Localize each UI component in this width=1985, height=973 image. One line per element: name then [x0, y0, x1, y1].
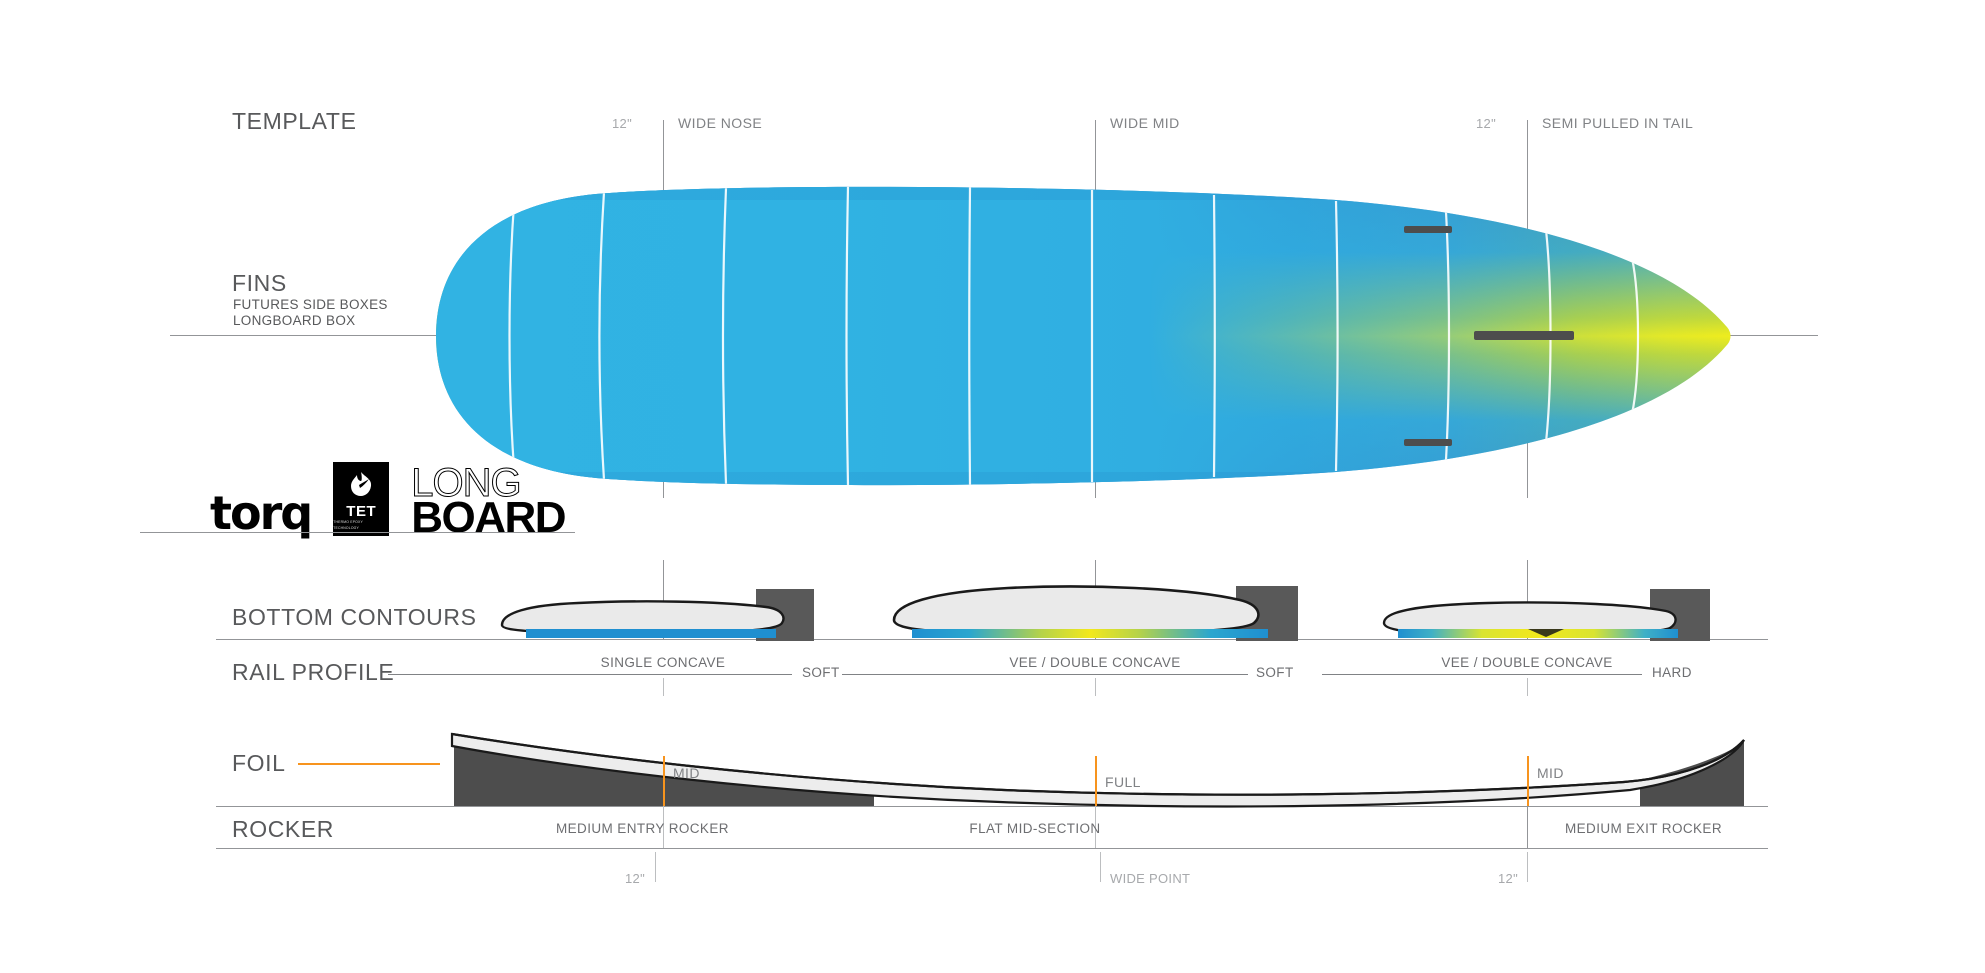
- rail-tick-tail: [1527, 678, 1528, 696]
- contour-label-mid: VEE / DOUBLE CONCAVE: [1009, 655, 1180, 670]
- section-title-bottom-contours: BOTTOM CONTOURS: [232, 604, 477, 631]
- model-name-board: BOARD: [411, 500, 565, 536]
- template-zone-tail: SEMI PULLED IN TAIL: [1542, 115, 1693, 131]
- rocker-label-flat: FLAT MID-SECTION: [969, 821, 1100, 836]
- rail-line-mid: [842, 674, 1248, 675]
- foil-label-full: FULL: [1105, 774, 1141, 790]
- rocker-baseline: [216, 848, 1768, 849]
- template-tick-tail: 12": [1476, 116, 1496, 131]
- spec-sheet: TEMPLATE 12" WIDE NOSE WIDE MID 12" SEMI…: [0, 0, 1985, 973]
- flame-icon: [344, 469, 378, 503]
- template-zone-wide-mid: WIDE MID: [1110, 115, 1180, 131]
- axis-label-wide-point: WIDE POINT: [1110, 871, 1190, 886]
- contour-label-nose: SINGLE CONCAVE: [601, 655, 726, 670]
- rail-label-soft-left: SOFT: [802, 665, 840, 680]
- template-tick-nose: 12": [612, 116, 632, 131]
- cross-section-mid-vee: [912, 629, 1268, 638]
- foil-label-mid-left: MID: [673, 765, 700, 781]
- brand-logo-block: torq TET THERMO EPOXY TECHNOLOGY LONG BO…: [210, 462, 565, 536]
- rail-line-left: [388, 674, 792, 675]
- fin-box-side-top: [1404, 226, 1452, 233]
- section-title-rail-profile: RAIL PROFILE: [232, 659, 394, 686]
- cross-section-tail: [1378, 583, 1718, 641]
- axis-label-tail: 12": [1498, 871, 1518, 886]
- contour-label-tail: VEE / DOUBLE CONCAVE: [1441, 655, 1612, 670]
- axis-guide-nose: [655, 852, 656, 882]
- rail-tick-mid: [1095, 678, 1096, 696]
- foil-accent-line: [298, 763, 440, 765]
- rail-tick-nose: [663, 678, 664, 696]
- fin-box-side-bottom: [1404, 439, 1452, 446]
- tet-badge-subtext: THERMO EPOXY TECHNOLOGY: [333, 519, 389, 531]
- fins-sub-futures: FUTURES SIDE BOXES: [233, 297, 388, 313]
- foil-tick-tail: [1527, 756, 1529, 806]
- tet-badge-text: TET: [346, 504, 376, 519]
- tet-badge: TET THERMO EPOXY TECHNOLOGY: [333, 462, 389, 536]
- section-title-foil: FOIL: [232, 750, 286, 777]
- rocker-label-exit: MEDIUM EXIT ROCKER: [1565, 821, 1722, 836]
- rocker-label-entry: MEDIUM ENTRY ROCKER: [556, 821, 729, 836]
- rail-label-hard: HARD: [1652, 665, 1692, 680]
- section-title-template: TEMPLATE: [232, 108, 357, 135]
- foil-label-mid-right: MID: [1537, 765, 1564, 781]
- logo-underline: [140, 532, 575, 533]
- axis-label-nose: 12": [625, 871, 645, 886]
- torq-wordmark: torq: [210, 490, 311, 536]
- section-title-rocker: ROCKER: [232, 816, 334, 843]
- fin-box-longboard-center: [1474, 331, 1574, 340]
- cross-section-nose-concave: [526, 629, 776, 638]
- axis-guide-wide-point: [1100, 852, 1101, 882]
- board-plan-view: [436, 186, 1732, 486]
- rail-label-soft-right: SOFT: [1256, 665, 1294, 680]
- rocker-guide-tail: [1527, 806, 1528, 848]
- fins-sub-longboard: LONGBOARD BOX: [233, 313, 355, 329]
- rail-line-right: [1322, 674, 1642, 675]
- foil-tick-nose: [663, 756, 665, 806]
- axis-guide-tail: [1527, 852, 1528, 882]
- cross-section-nose: [498, 583, 828, 641]
- section-title-fins: FINS: [232, 270, 287, 297]
- foil-tick-mid: [1095, 756, 1097, 806]
- cross-section-mid: [888, 578, 1308, 641]
- template-zone-wide-nose: WIDE NOSE: [678, 115, 762, 131]
- model-name: LONG BOARD: [411, 467, 565, 536]
